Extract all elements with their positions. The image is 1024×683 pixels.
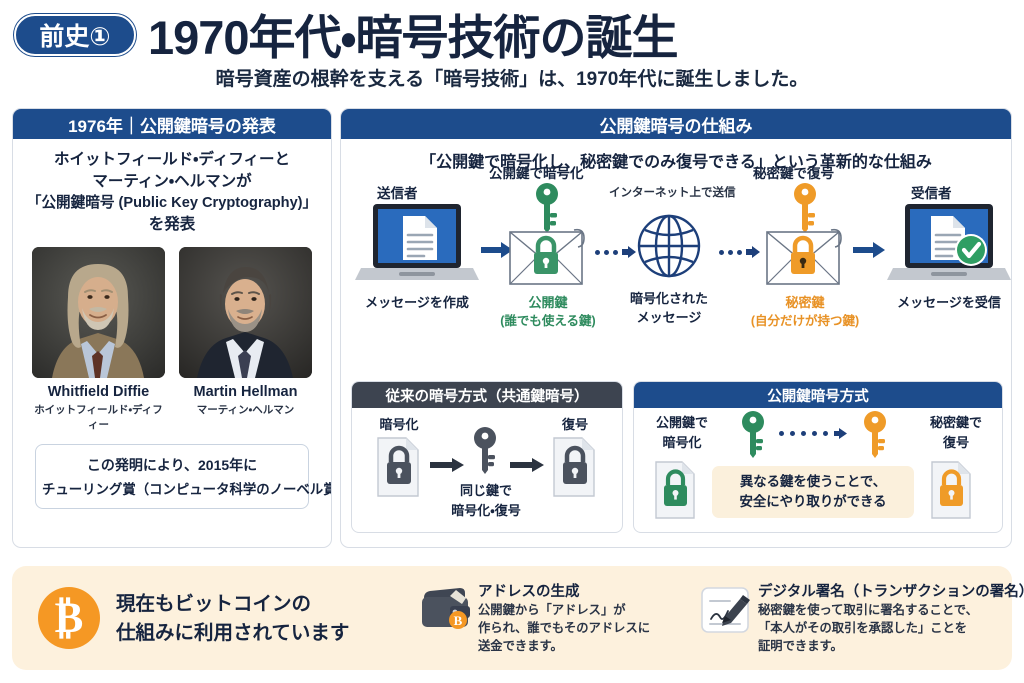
left-panel-header: 1976年｜公開鍵暗号の発表: [13, 109, 331, 139]
old-center-line-2: 暗号化・復号: [432, 500, 540, 519]
locked-doc-green-icon: [652, 460, 700, 525]
note-line-2: 安全にやり取りができる: [739, 492, 886, 512]
note-line-1: 異なる鍵を使うことで、: [740, 472, 886, 492]
page-title: 1970年代・暗号技術の誕生: [148, 2, 868, 64]
dotted-arrow-keys-icon: [779, 428, 847, 439]
banner-title-line-1: 現在もビットコインの: [116, 590, 381, 619]
new-right-line-1: 秘密鍵で: [914, 412, 998, 431]
right-panel-header: 公開鍵暗号の仕組み: [341, 109, 1011, 139]
arrow-old-right-icon: [510, 458, 544, 477]
arrow-old-left-icon: [430, 458, 464, 477]
flow-public-key-caption: 公開鍵: [498, 292, 598, 311]
portrait-group: Whitfield Diffie ホイットフィールド・ディフィー: [21, 247, 323, 432]
page-subtitle: 暗号資産の根幹を支える「暗号技術」は、1970年代に誕生しました。: [0, 62, 1024, 92]
flow-receiver-label: 受信者: [911, 182, 952, 202]
award-line-2: チューリング賞（コンピュータ科学のノーベル賞）を受賞: [42, 478, 302, 498]
series-badge: 前史①: [14, 14, 136, 56]
infographic-page: 前史① 1970年代・暗号技術の誕生 暗号資産の根幹を支える「暗号技術」は、19…: [0, 0, 1024, 683]
public-key-green-icon: [736, 410, 770, 463]
locked-doc-gray-right-icon: [550, 436, 600, 503]
old-right-label: 復号: [540, 414, 610, 433]
award-box: この発明により、2015年に チューリング賞（コンピュータ科学のノーベル賞）を受…: [35, 444, 309, 509]
wallet-icon: B: [420, 586, 472, 635]
banner-title: 現在もビットコインの 仕組みに利用されています: [116, 590, 381, 649]
bitcoin-icon: ₿: [38, 587, 100, 649]
receiver-laptop-icon: [887, 202, 1011, 297]
page-header: 前史① 1970年代・暗号技術の誕生 暗号資産の根幹を支える「暗号技術」は、19…: [0, 0, 1024, 100]
panel-1976-announcement: 1976年｜公開鍵暗号の発表 ホイットフィールド・ディフィーと マーティン・ヘル…: [12, 108, 332, 548]
shared-key-gray-icon: [468, 426, 502, 479]
flow-internet-label: インターネット上で送信: [609, 184, 736, 200]
new-method-note-box: 異なる鍵を使うことで、 安全にやり取りができる: [712, 466, 914, 518]
signature-icon: [700, 586, 752, 639]
banner-item-title: デジタル署名（トランザクションの署名）: [758, 580, 1024, 601]
flow-encrypt-label: 公開鍵で暗号化: [489, 162, 584, 182]
dotted-arrow-2-icon: [719, 246, 760, 258]
person-card-hellman: Martin Hellman マーティン・ヘルマン: [179, 247, 312, 432]
person-name-en: Martin Hellman: [179, 384, 312, 400]
flow-sender-caption: メッセージを作成: [355, 292, 479, 311]
banner-item-body-line-1: 公開鍵から「アドレス」が: [478, 601, 650, 619]
banner-item-body-line-1: 秘密鍵を使って取引に署名することで、: [758, 601, 978, 619]
person-name-en: Whitfield Diffie: [32, 384, 165, 400]
bitcoin-usage-banner: ₿ 現在もビットコインの 仕組みに利用されています B アドレスの生成 公開: [12, 566, 1012, 670]
banner-item-digital-signature: デジタル署名（トランザクションの署名） 秘密鍵を使って取引に署名することで、 「…: [700, 580, 1010, 660]
banner-item-body-line-2: 作られ、誰でもそのアドレスに: [478, 619, 650, 637]
banner-title-line-2: 仕組みに利用されています: [116, 619, 381, 648]
banner-item-body-line-3: 送金できます。: [478, 637, 650, 655]
banner-item-body: 公開鍵から「アドレス」が 作られ、誰でもそのアドレスに 送金できます。: [478, 601, 650, 656]
old-method-body: 暗号化 復号: [352, 408, 622, 533]
flow-sender-label: 送信者: [377, 182, 418, 202]
new-right-line-2: 復号: [914, 432, 998, 451]
subpanel-symmetric-encryption: 従来の暗号方式（共通鍵暗号） 暗号化 復号: [351, 381, 623, 533]
award-line-1: この発明により、2015年に: [42, 455, 302, 475]
old-method-header: 従来の暗号方式（共通鍵暗号）: [352, 382, 622, 408]
lead-line-1: ホイットフィールド・ディフィーと: [21, 149, 323, 171]
lead-line-2: マーティン・ヘルマンが: [21, 171, 323, 193]
panel-public-key-mechanism: 公開鍵暗号の仕組み 「公開鍵で暗号化し、秘密鍵でのみ復号できる」という革新的な仕…: [340, 108, 1012, 548]
encryption-flow-diagram: 送信者 メッセージを作成: [341, 176, 1011, 361]
sender-laptop-icon: [355, 202, 479, 297]
arrow-envelope-to-receiver-icon: [853, 242, 885, 263]
new-left-line-1: 公開鍵で: [640, 412, 724, 431]
person-name-ja: マーティン・ヘルマン: [179, 402, 312, 417]
subpanel-asymmetric-encryption: 公開鍵暗号方式 公開鍵で 暗号化 秘密鍵で 復号: [633, 381, 1003, 533]
new-method-header: 公開鍵暗号方式: [634, 382, 1002, 408]
new-method-body: 公開鍵で 暗号化 秘密鍵で 復号: [634, 408, 1002, 533]
locked-doc-gray-left-icon: [374, 436, 424, 503]
flow-receiver-caption: メッセージを受信: [887, 292, 1011, 311]
person-name-ja: ホイットフィールド・ディフィー: [32, 402, 165, 432]
svg-text:B: B: [454, 613, 463, 628]
flow-private-key-caption: 秘密鍵: [755, 292, 855, 311]
new-left-line-2: 暗号化: [640, 432, 724, 451]
flow-encrypted-caption-2: メッセージ: [623, 307, 715, 326]
portrait-diffie: [32, 247, 165, 378]
banner-item-address-generation: B アドレスの生成 公開鍵から「アドレス」が 作られ、誰でもそのアドレスに 送金…: [420, 580, 692, 660]
dotted-arrow-1-icon: [595, 246, 636, 258]
flow-decrypt-label: 秘密鍵で復号: [753, 162, 834, 182]
left-panel-lead: ホイットフィールド・ディフィーと マーティン・ヘルマンが 「公開鍵暗号 (Pub…: [21, 149, 323, 236]
banner-item-body-line-2: 「本人がその取引を承認した」ことを: [758, 619, 978, 637]
banner-item-body: 秘密鍵を使って取引に署名することで、 「本人がその取引を承認した」ことを 証明で…: [758, 601, 978, 656]
portrait-hellman: [179, 247, 312, 378]
lead-line-4: を発表: [21, 214, 323, 236]
lead-line-3: 「公開鍵暗号 (Public Key Cryptography)」: [21, 193, 323, 214]
right-panel-lead: 「公開鍵で暗号化し、秘密鍵でのみ復号できる」という革新的な仕組み: [341, 148, 1011, 172]
person-card-diffie: Whitfield Diffie ホイットフィールド・ディフィー: [32, 247, 165, 432]
globe-icon: [635, 212, 703, 285]
banner-item-title: アドレスの生成: [478, 580, 580, 601]
flow-public-key-sub: (誰でも使える鍵): [488, 310, 608, 329]
old-center-line-1: 同じ鍵で: [440, 480, 532, 499]
flow-encrypted-caption-1: 暗号化された: [623, 288, 715, 307]
flow-private-key-sub: (自分だけが持つ鍵): [739, 310, 871, 329]
left-panel-body: ホイットフィールド・ディフィーと マーティン・ヘルマンが 「公開鍵暗号 (Pub…: [13, 139, 331, 509]
banner-item-body-line-3: 証明できます。: [758, 637, 978, 655]
locked-doc-orange-icon: [928, 460, 976, 525]
old-left-label: 暗号化: [364, 414, 434, 433]
encrypted-envelope-orange-icon: [765, 226, 845, 293]
encrypted-envelope-green-icon: [508, 226, 588, 293]
private-key-orange-icon: [858, 410, 892, 463]
